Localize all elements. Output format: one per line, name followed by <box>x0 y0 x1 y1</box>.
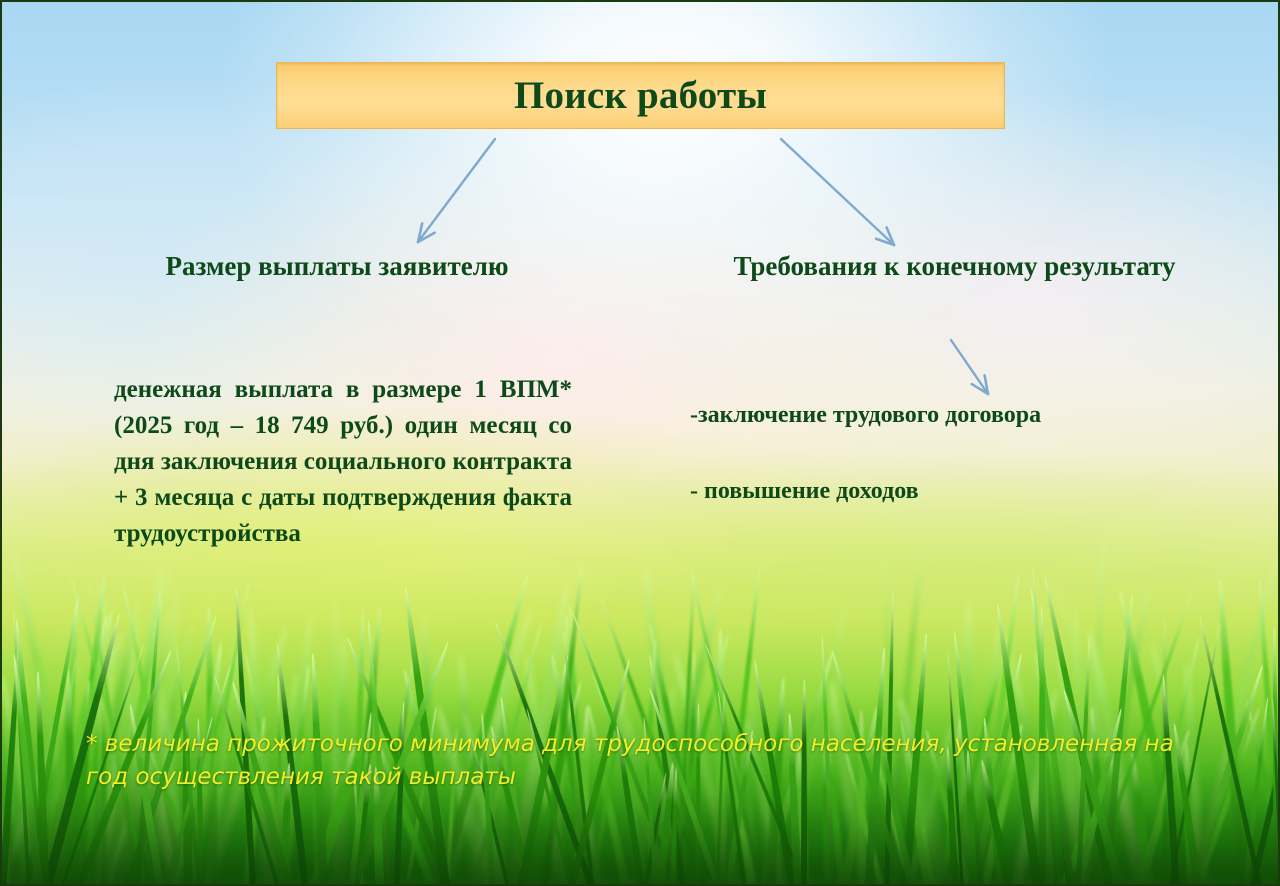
page-title: Поиск работы <box>514 76 767 115</box>
title-box: Поиск работы <box>276 62 1005 129</box>
right-column-heading: Требования к конечному результату <box>732 249 1177 284</box>
left-column-body-text: денежная выплата в размере 1 ВПМ* (2025 … <box>114 372 572 552</box>
footnote-text: * величина прожиточного минимума для тру… <box>86 728 1211 793</box>
left-column-heading: Размер выплаты заявителю <box>152 249 522 284</box>
right-column-bullet-2: - повышение доходов <box>690 476 919 507</box>
slide-canvas: Поиск работы Размер выплаты заявителю де… <box>0 0 1280 886</box>
right-column-bullet-1: -заключение трудового договора <box>690 400 1041 431</box>
